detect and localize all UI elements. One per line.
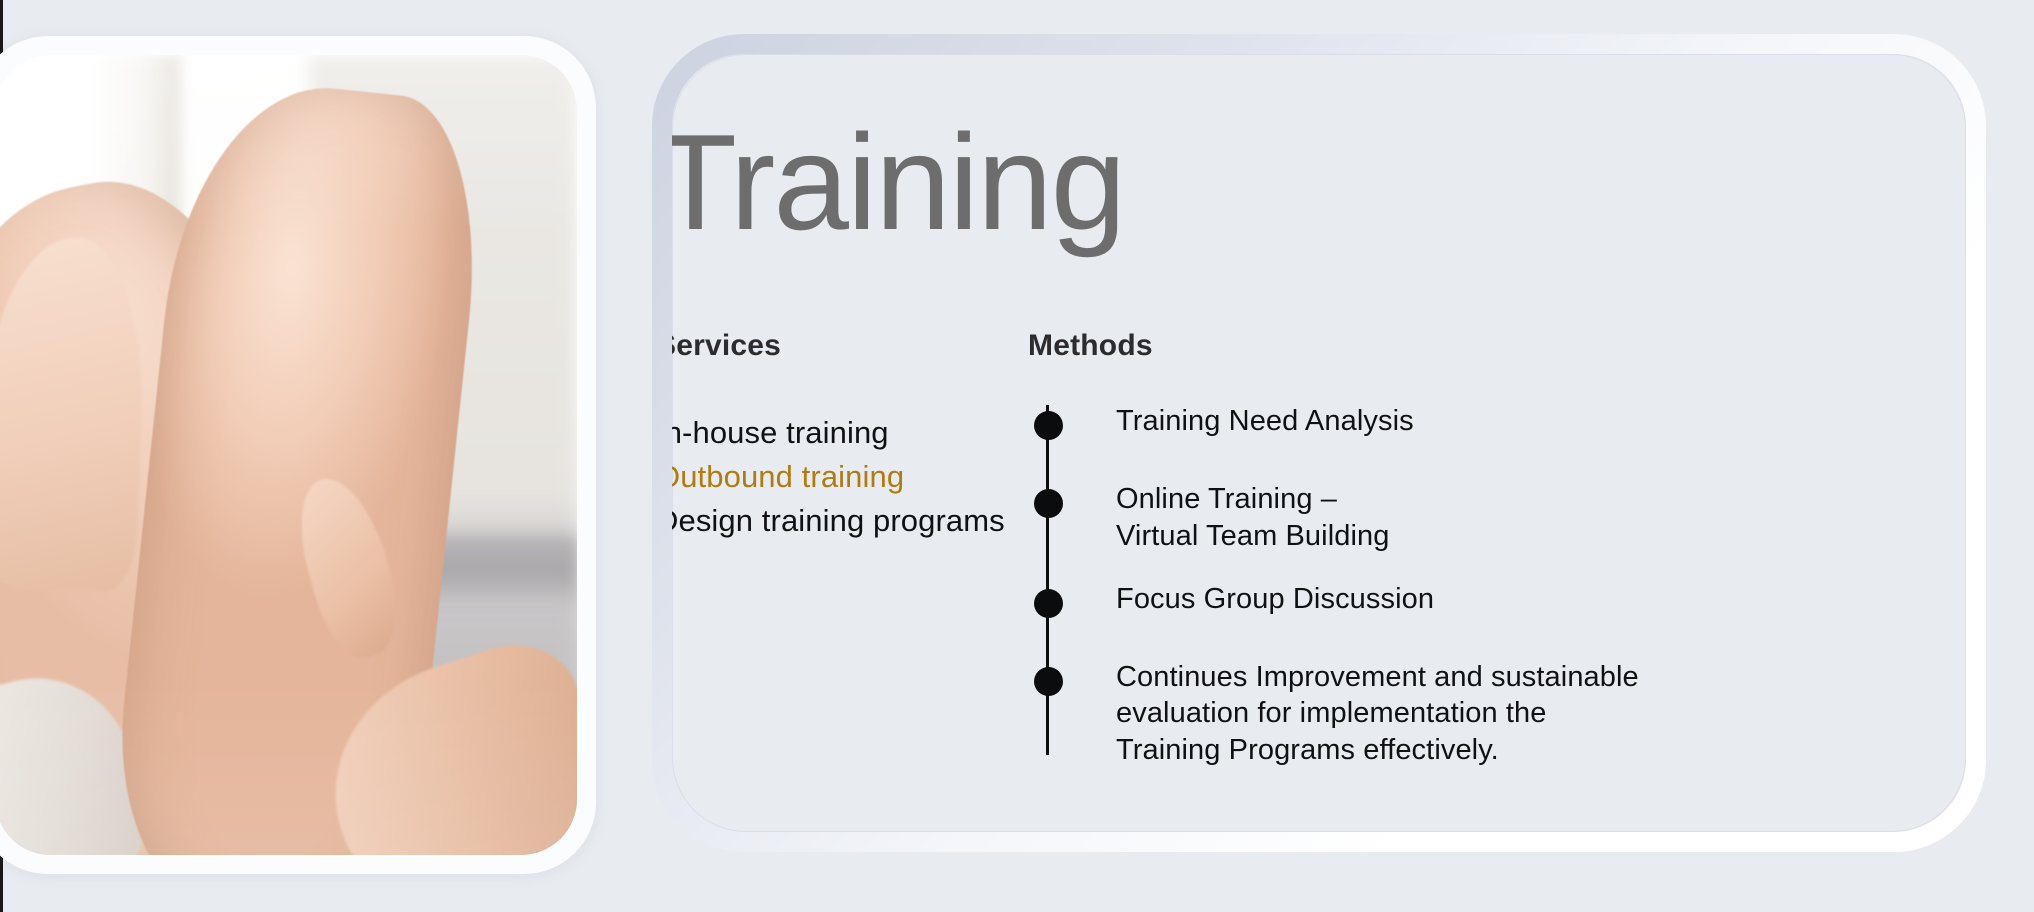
timeline-item-label: Online Training – Virtual Team Building xyxy=(1076,481,1928,555)
timeline-item-label: Focus Group Discussion xyxy=(1076,581,1928,618)
timeline-dot-icon xyxy=(1034,411,1063,440)
methods-timeline: Training Need Analysis Online Training –… xyxy=(1028,403,1928,769)
methods-column: Methods Training Need Analysis Online Tr… xyxy=(1028,329,1928,769)
timeline-item-label: Continues Improvement and sustainable ev… xyxy=(1076,659,1928,769)
slide-root: Training Services In-house training Outb… xyxy=(0,0,2034,912)
content-card: Training Services In-house training Outb… xyxy=(652,34,1986,852)
photo-image xyxy=(0,55,577,855)
list-item[interactable]: Online Training – Virtual Team Building xyxy=(1076,481,1928,555)
list-item[interactable]: Training Need Analysis xyxy=(1076,403,1928,455)
timeline-item-label: Training Need Analysis xyxy=(1076,403,1928,440)
timeline-dot-icon xyxy=(1034,489,1063,518)
list-item[interactable]: Continues Improvement and sustainable ev… xyxy=(1076,659,1928,769)
timeline-dot-icon xyxy=(1034,667,1063,696)
page-title: Training xyxy=(672,114,1124,250)
timeline-dot-icon xyxy=(1034,589,1063,618)
content-card-inner: Training Services In-house training Outb… xyxy=(672,54,1966,832)
methods-heading: Methods xyxy=(1028,329,1928,363)
list-item[interactable]: Focus Group Discussion xyxy=(1076,581,1928,633)
photo-card xyxy=(0,36,596,874)
photo-soft-overlay xyxy=(0,55,577,855)
timeline-axis-line xyxy=(1046,405,1049,755)
